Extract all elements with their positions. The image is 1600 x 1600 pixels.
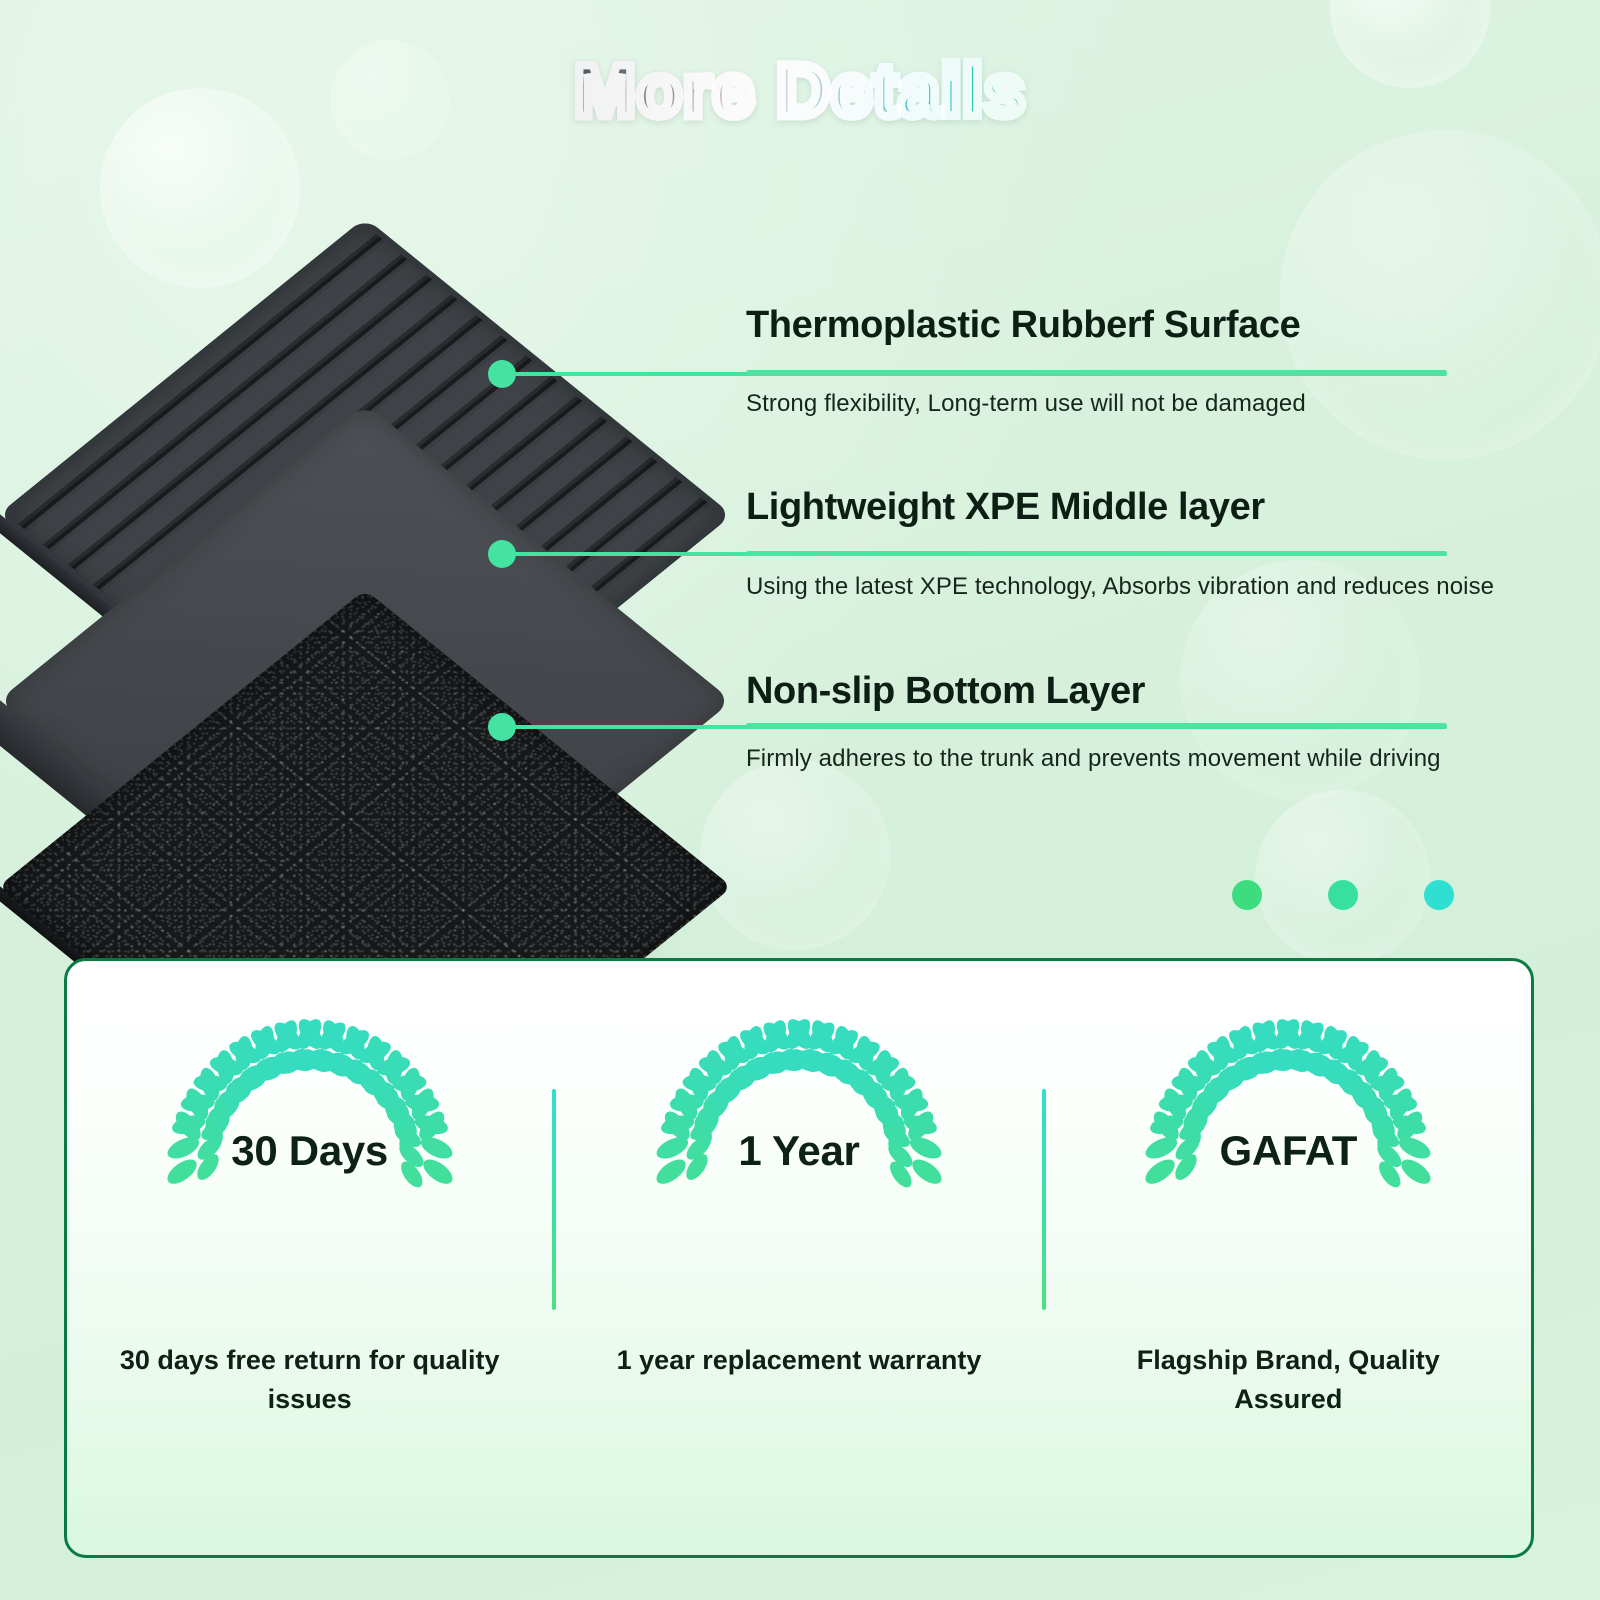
laurel-wreath-icon: GAFAT — [1123, 1009, 1453, 1319]
guarantee-caption: 1 year replacement warranty — [617, 1341, 982, 1380]
pagination-dot-3[interactable] — [1424, 880, 1454, 910]
laurel-wreath-icon: 1 Year — [634, 1009, 964, 1319]
feature-heading: Non-slip Bottom Layer — [746, 670, 1145, 713]
pagination-dot-2[interactable] — [1328, 880, 1358, 910]
guarantee-caption: 30 days free return for quality issues — [110, 1341, 510, 1419]
page-title: More Details — [0, 52, 1600, 130]
feature-rule — [746, 551, 1447, 556]
feature-rule — [746, 370, 1447, 375]
feature-rule — [746, 723, 1447, 728]
feature-subtitle: Using the latest XPE technology, Absorbs… — [746, 573, 1494, 601]
page-title-text: More Details — [574, 49, 1026, 132]
laurel-wreath-icon: 30 Days — [145, 1009, 475, 1319]
product-layer-stack — [40, 190, 780, 930]
guarantee-badge-label: 1 Year — [634, 1127, 964, 1175]
guarantee-item-1-year: 1 Year 1 year replacement warranty — [556, 961, 1041, 1555]
pagination-dot-1[interactable] — [1232, 880, 1262, 910]
guarantee-item-30-days: 30 Days 30 days free return for quality … — [67, 961, 552, 1555]
infographic-page: More Details Thermoplas — [0, 0, 1600, 1600]
pagination-dots[interactable] — [1232, 880, 1454, 910]
feature-subtitle: Firmly adheres to the trunk and prevents… — [746, 745, 1441, 773]
guarantee-badge-label: 30 Days — [145, 1127, 475, 1175]
guarantee-panel: 30 Days 30 days free return for quality … — [64, 958, 1534, 1558]
decorative-bubble — [1255, 790, 1430, 965]
decorative-bubble — [1280, 130, 1600, 460]
guarantee-item-gafat: GAFAT Flagship Brand, Quality Assured — [1046, 961, 1531, 1555]
guarantee-badge-label: GAFAT — [1123, 1127, 1453, 1175]
feature-heading: Thermoplastic Rubberf Surface — [746, 304, 1300, 347]
guarantee-list: 30 Days 30 days free return for quality … — [67, 961, 1531, 1555]
feature-subtitle: Strong flexibility, Long-term use will n… — [746, 390, 1306, 418]
feature-heading: Lightweight XPE Middle layer — [746, 486, 1265, 529]
guarantee-caption: Flagship Brand, Quality Assured — [1088, 1341, 1488, 1419]
